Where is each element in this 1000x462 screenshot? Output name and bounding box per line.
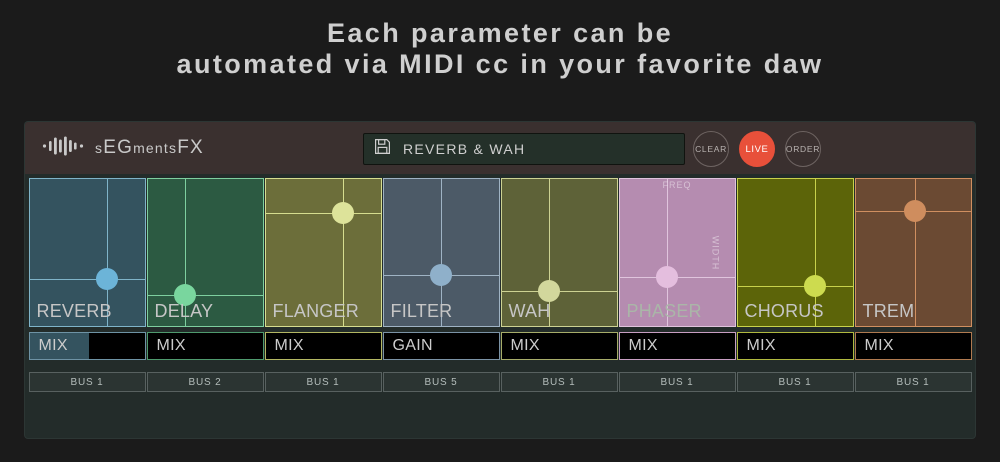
param-slider-mix[interactable]: MIX <box>737 332 854 360</box>
param-slider-gain[interactable]: GAIN <box>383 332 500 360</box>
bus-selector[interactable]: BUS 2 <box>147 372 264 392</box>
param-slider-label: MIX <box>865 337 894 355</box>
effect-name-label: FLANGER <box>273 301 359 322</box>
param-slider-mix[interactable]: MIX <box>855 332 972 360</box>
xy-pad-filter[interactable]: FILTER <box>383 178 500 327</box>
xy-pad-handle[interactable] <box>656 266 678 288</box>
param-slider-label: MIX <box>511 337 540 355</box>
effect-strip-trem: TREMMIXBUS 1 <box>855 174 972 392</box>
xy-pad-trem[interactable]: TREM <box>855 178 972 327</box>
effect-name-label: CHORUS <box>745 301 824 322</box>
bus-selector[interactable]: BUS 1 <box>737 372 854 392</box>
effect-strip-delay: DELAYMIXBUS 2 <box>147 174 264 392</box>
param-slider-label: GAIN <box>393 337 433 355</box>
xy-pad-delay[interactable]: DELAY <box>147 178 264 327</box>
param-slider-mix[interactable]: MIX <box>29 332 146 360</box>
param-slider-mix[interactable]: MIX <box>265 332 382 360</box>
effect-strip-flanger: FLANGERMIXBUS 1 <box>265 174 382 392</box>
brand-name-part4: FX <box>177 137 204 158</box>
bus-selector[interactable]: BUS 1 <box>619 372 736 392</box>
bus-selector[interactable]: BUS 1 <box>501 372 618 392</box>
plugin-toolbar: sEGmentsFX REVERB & WAH CLEAR LIVE ORDER <box>25 122 975 174</box>
brand-name: sEGmentsFX <box>95 137 204 159</box>
param-slider-mix[interactable]: MIX <box>147 332 264 360</box>
clear-button[interactable]: CLEAR <box>693 131 729 167</box>
waveform-icon <box>42 136 84 161</box>
param-slider-label: MIX <box>275 337 304 355</box>
preset-name: REVERB & WAH <box>403 141 525 157</box>
xy-pad-handle[interactable] <box>430 264 452 286</box>
effect-strip-filter: FILTERGAINBUS 5 <box>383 174 500 392</box>
brand-name-part2: EG <box>103 137 133 158</box>
headline-line-1: Each parameter can be <box>0 18 1000 49</box>
xy-pad-handle[interactable] <box>904 200 926 222</box>
xy-pad-wah[interactable]: WAH <box>501 178 618 327</box>
effect-name-label: WAH <box>509 301 551 322</box>
xy-pad-horizontal-line <box>738 286 853 287</box>
effect-strip-wah: WAHMIXBUS 1 <box>501 174 618 392</box>
xy-pad-handle[interactable] <box>332 202 354 224</box>
bus-selector[interactable]: BUS 1 <box>855 372 972 392</box>
param-slider-label: MIX <box>39 337 68 355</box>
param-slider-mix[interactable]: MIX <box>619 332 736 360</box>
param-slider-mix[interactable]: MIX <box>501 332 618 360</box>
effect-name-label: REVERB <box>37 301 112 322</box>
xy-pad-phaser[interactable]: FREQWIDTHPHASER <box>619 178 736 327</box>
effect-strip-reverb: REVERBMIXBUS 1 <box>29 174 146 392</box>
param-slider-label: MIX <box>747 337 776 355</box>
xy-pad-reverb[interactable]: REVERB <box>29 178 146 327</box>
live-button[interactable]: LIVE <box>739 131 775 167</box>
xy-pad-horizontal-line <box>266 213 381 214</box>
param-slider-label: MIX <box>157 337 186 355</box>
save-floppy-icon[interactable] <box>374 138 391 160</box>
xy-pad-axis-label-right: WIDTH <box>710 235 720 270</box>
page-headline: Each parameter can be automated via MIDI… <box>0 0 1000 80</box>
bus-selector[interactable]: BUS 1 <box>265 372 382 392</box>
effect-name-label: PHASER <box>627 301 702 322</box>
xy-pad-handle[interactable] <box>538 280 560 302</box>
bus-selector[interactable]: BUS 5 <box>383 372 500 392</box>
effect-name-label: FILTER <box>391 301 453 322</box>
order-button[interactable]: ORDER <box>785 131 821 167</box>
xy-pad-axis-label-top: FREQ <box>620 180 735 190</box>
segmentsfx-plugin-window: sEGmentsFX REVERB & WAH CLEAR LIVE ORDER… <box>25 122 975 438</box>
effect-name-label: DELAY <box>155 301 214 322</box>
xy-pad-flanger[interactable]: FLANGER <box>265 178 382 327</box>
effect-strips: REVERBMIXBUS 1DELAYMIXBUS 2FLANGERMIXBUS… <box>25 174 975 392</box>
xy-pad-horizontal-line <box>30 279 145 280</box>
effect-strip-chorus: CHORUSMIXBUS 1 <box>737 174 854 392</box>
transport-buttons: CLEAR LIVE ORDER <box>693 131 821 167</box>
param-slider-label: MIX <box>629 337 658 355</box>
xy-pad-chorus[interactable]: CHORUS <box>737 178 854 327</box>
effect-name-label: TREM <box>863 301 915 322</box>
xy-pad-handle[interactable] <box>96 268 118 290</box>
preset-field[interactable]: REVERB & WAH <box>363 133 685 165</box>
headline-line-2: automated via MIDI cc in your favorite d… <box>0 49 1000 80</box>
brand-name-part1: s <box>95 140 103 156</box>
brand-name-part3: ments <box>133 140 177 156</box>
effect-strip-phaser: FREQWIDTHPHASERMIXBUS 1 <box>619 174 736 392</box>
xy-pad-handle[interactable] <box>804 275 826 297</box>
brand-logo: sEGmentsFX <box>42 136 204 161</box>
xy-pad-horizontal-line <box>148 295 263 296</box>
bus-selector[interactable]: BUS 1 <box>29 372 146 392</box>
